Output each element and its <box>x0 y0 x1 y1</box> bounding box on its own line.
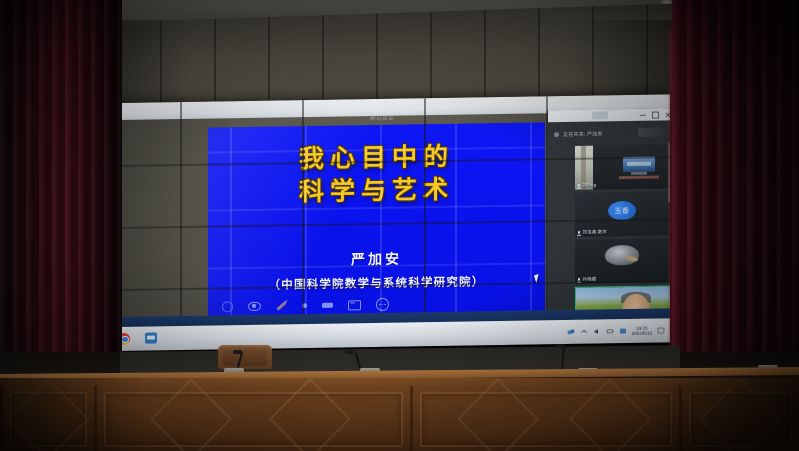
participant-name-label: 孙晓霞 <box>583 277 597 283</box>
ime-icon[interactable] <box>619 327 627 335</box>
chair <box>218 345 272 369</box>
pointer-eye-icon[interactable] <box>248 302 261 311</box>
tile-stand-region <box>631 172 647 175</box>
tile-camera-region <box>605 245 639 266</box>
auditorium-photo: 腾讯会议 我心目中的 科学与艺术 严加安 （中国科学院数学与系统科学研究院） <box>0 0 799 451</box>
participant-name: 孙晓霞 <box>577 277 596 283</box>
eraser-icon[interactable] <box>322 303 333 308</box>
desk-shadow-overlay <box>0 378 799 451</box>
powerpoint-slide[interactable]: 我心目中的 科学与艺术 严加安 （中国科学院数学与系统科学研究院） <box>208 122 545 319</box>
slide-title-line1: 我心目中的 <box>208 138 545 176</box>
meeting-logo-icon <box>638 127 664 136</box>
slide-view-icon[interactable] <box>348 300 361 310</box>
tile-desk-region <box>619 176 659 180</box>
meeting-app-button[interactable] <box>145 332 158 345</box>
participant-tile[interactable]: 刘Ping <box>575 144 669 189</box>
mic-icon <box>577 277 581 282</box>
participant-tile[interactable]: 玉香 刘玉香·数学 <box>575 191 669 236</box>
meeting-app-icon <box>145 332 157 343</box>
system-tray[interactable]: 19:25 2022/8/10 <box>567 325 670 337</box>
battery-icon[interactable] <box>606 327 614 335</box>
volume-icon[interactable] <box>593 327 601 335</box>
mic-icon <box>577 230 581 235</box>
slide-title: 我心目中的 科学与艺术 <box>208 138 545 209</box>
participant-name: 刘Ping <box>577 183 596 189</box>
clock-date: 2022/8/10 <box>632 331 652 337</box>
presenter-toolbar[interactable] <box>222 298 389 314</box>
video-wall-display[interactable]: 腾讯会议 我心目中的 科学与艺术 严加安 （中国科学院数学与系统科学研究院） <box>58 94 670 352</box>
slide-title-line2: 科学与艺术 <box>208 171 545 209</box>
participant-name-label: 刘Ping <box>583 183 597 189</box>
participant-name: 刘玉香·数学 <box>577 229 607 235</box>
more-options-icon[interactable] <box>376 298 389 311</box>
participant-tile[interactable]: 孙晓霞 <box>575 238 669 283</box>
microphone-head <box>556 344 565 348</box>
minimize-button[interactable] <box>640 112 646 118</box>
meeting-toolbar-badge <box>592 111 608 119</box>
meeting-watermark: 腾讯会议 <box>346 114 418 124</box>
microphone-head <box>345 350 354 354</box>
status-dot-icon <box>554 132 559 137</box>
mic-icon <box>577 183 581 188</box>
meeting-sidebar[interactable]: 正在共享: 严加安 刘Ping 玉香 刘玉香·数学 <box>547 108 670 320</box>
tile-screen-region <box>623 157 655 173</box>
pen-icon[interactable] <box>276 301 286 310</box>
taskbar-clock[interactable]: 19:25 2022/8/10 <box>632 325 652 336</box>
laser-dot-icon[interactable] <box>302 303 307 308</box>
meeting-titlebar <box>548 108 670 122</box>
network-icon[interactable] <box>567 328 575 336</box>
sharing-status-label: 正在共享: 严加安 <box>563 130 603 138</box>
sharing-status: 正在共享: 严加安 <box>554 126 666 140</box>
chevron-up-icon[interactable] <box>580 328 588 336</box>
microphone-head <box>233 350 242 354</box>
notification-icon[interactable] <box>657 326 665 334</box>
previous-slide-icon[interactable] <box>222 301 233 312</box>
participant-name-label: 刘玉香·数学 <box>583 229 608 235</box>
maximize-button[interactable] <box>652 111 659 118</box>
